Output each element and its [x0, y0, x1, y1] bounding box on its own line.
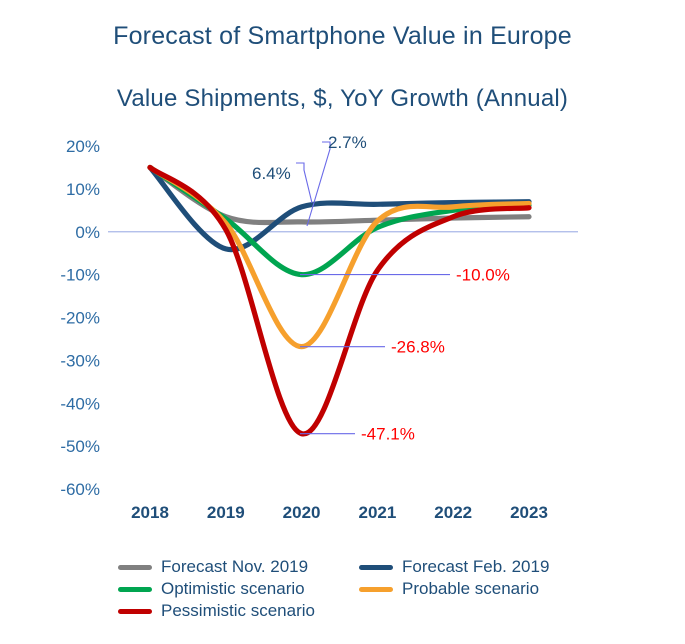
line-chart-plot: 20%10%0%-10%-20%-30%-40%-50%-60% 2018201…	[0, 0, 685, 540]
x-axis-tick-label: 2018	[131, 503, 169, 522]
callout-2-7: 2.7%	[328, 133, 367, 152]
legend-item-label: Optimistic scenario	[161, 579, 305, 599]
y-axis-tick-label: -30%	[60, 351, 100, 370]
chart-legend: Forecast Nov. 2019Forecast Feb. 2019Opti…	[118, 556, 588, 622]
legend-item[interactable]: Pessimistic scenario	[118, 600, 347, 622]
series-group	[150, 167, 529, 433]
callout-6-4: 6.4%	[252, 164, 291, 183]
legend-color-swatch	[359, 565, 393, 570]
x-axis-tick-label: 2020	[283, 503, 321, 522]
legend-item-label: Forecast Nov. 2019	[161, 557, 308, 577]
x-axis: 201820192020202120222023	[131, 503, 548, 522]
legend-color-swatch	[118, 565, 152, 570]
y-axis-tick-label: -10%	[60, 266, 100, 285]
legend-item-label: Pessimistic scenario	[161, 601, 315, 621]
y-axis-tick-label: 20%	[66, 137, 100, 156]
y-axis-tick-label: 10%	[66, 180, 100, 199]
leader-line	[307, 142, 330, 226]
callout-minus-10: -10.0%	[456, 266, 510, 285]
leader-line	[296, 163, 312, 203]
annotation-labels: 6.4%2.7%-10.0%-26.8%-47.1%	[252, 133, 510, 444]
legend-item[interactable]: Forecast Nov. 2019	[118, 556, 347, 578]
annotation-leaders	[296, 142, 450, 434]
callout-minus-47-1: -47.1%	[361, 425, 415, 444]
legend-item-label: Probable scenario	[402, 579, 539, 599]
chart-container: Forecast of Smartphone Value in Europe V…	[0, 0, 685, 644]
legend-item-label: Forecast Feb. 2019	[402, 557, 549, 577]
y-axis-tick-label: -20%	[60, 309, 100, 328]
legend-item[interactable]: Forecast Feb. 2019	[359, 556, 588, 578]
x-axis-tick-label: 2023	[510, 503, 548, 522]
legend-color-swatch	[118, 587, 152, 592]
legend-item[interactable]: Optimistic scenario	[118, 578, 347, 600]
y-axis-tick-label: -40%	[60, 394, 100, 413]
x-axis-tick-label: 2019	[207, 503, 245, 522]
callout-minus-26-8: -26.8%	[391, 338, 445, 357]
legend-color-swatch	[118, 609, 152, 614]
x-axis-tick-label: 2021	[358, 503, 396, 522]
y-axis-tick-label: 0%	[75, 223, 100, 242]
y-axis-tick-label: -60%	[60, 480, 100, 499]
series-line	[150, 167, 529, 222]
y-axis-tick-label: -50%	[60, 437, 100, 456]
x-axis-tick-label: 2022	[434, 503, 472, 522]
y-axis: 20%10%0%-10%-20%-30%-40%-50%-60%	[60, 137, 100, 499]
legend-color-swatch	[359, 587, 393, 592]
legend-item[interactable]: Probable scenario	[359, 578, 588, 600]
